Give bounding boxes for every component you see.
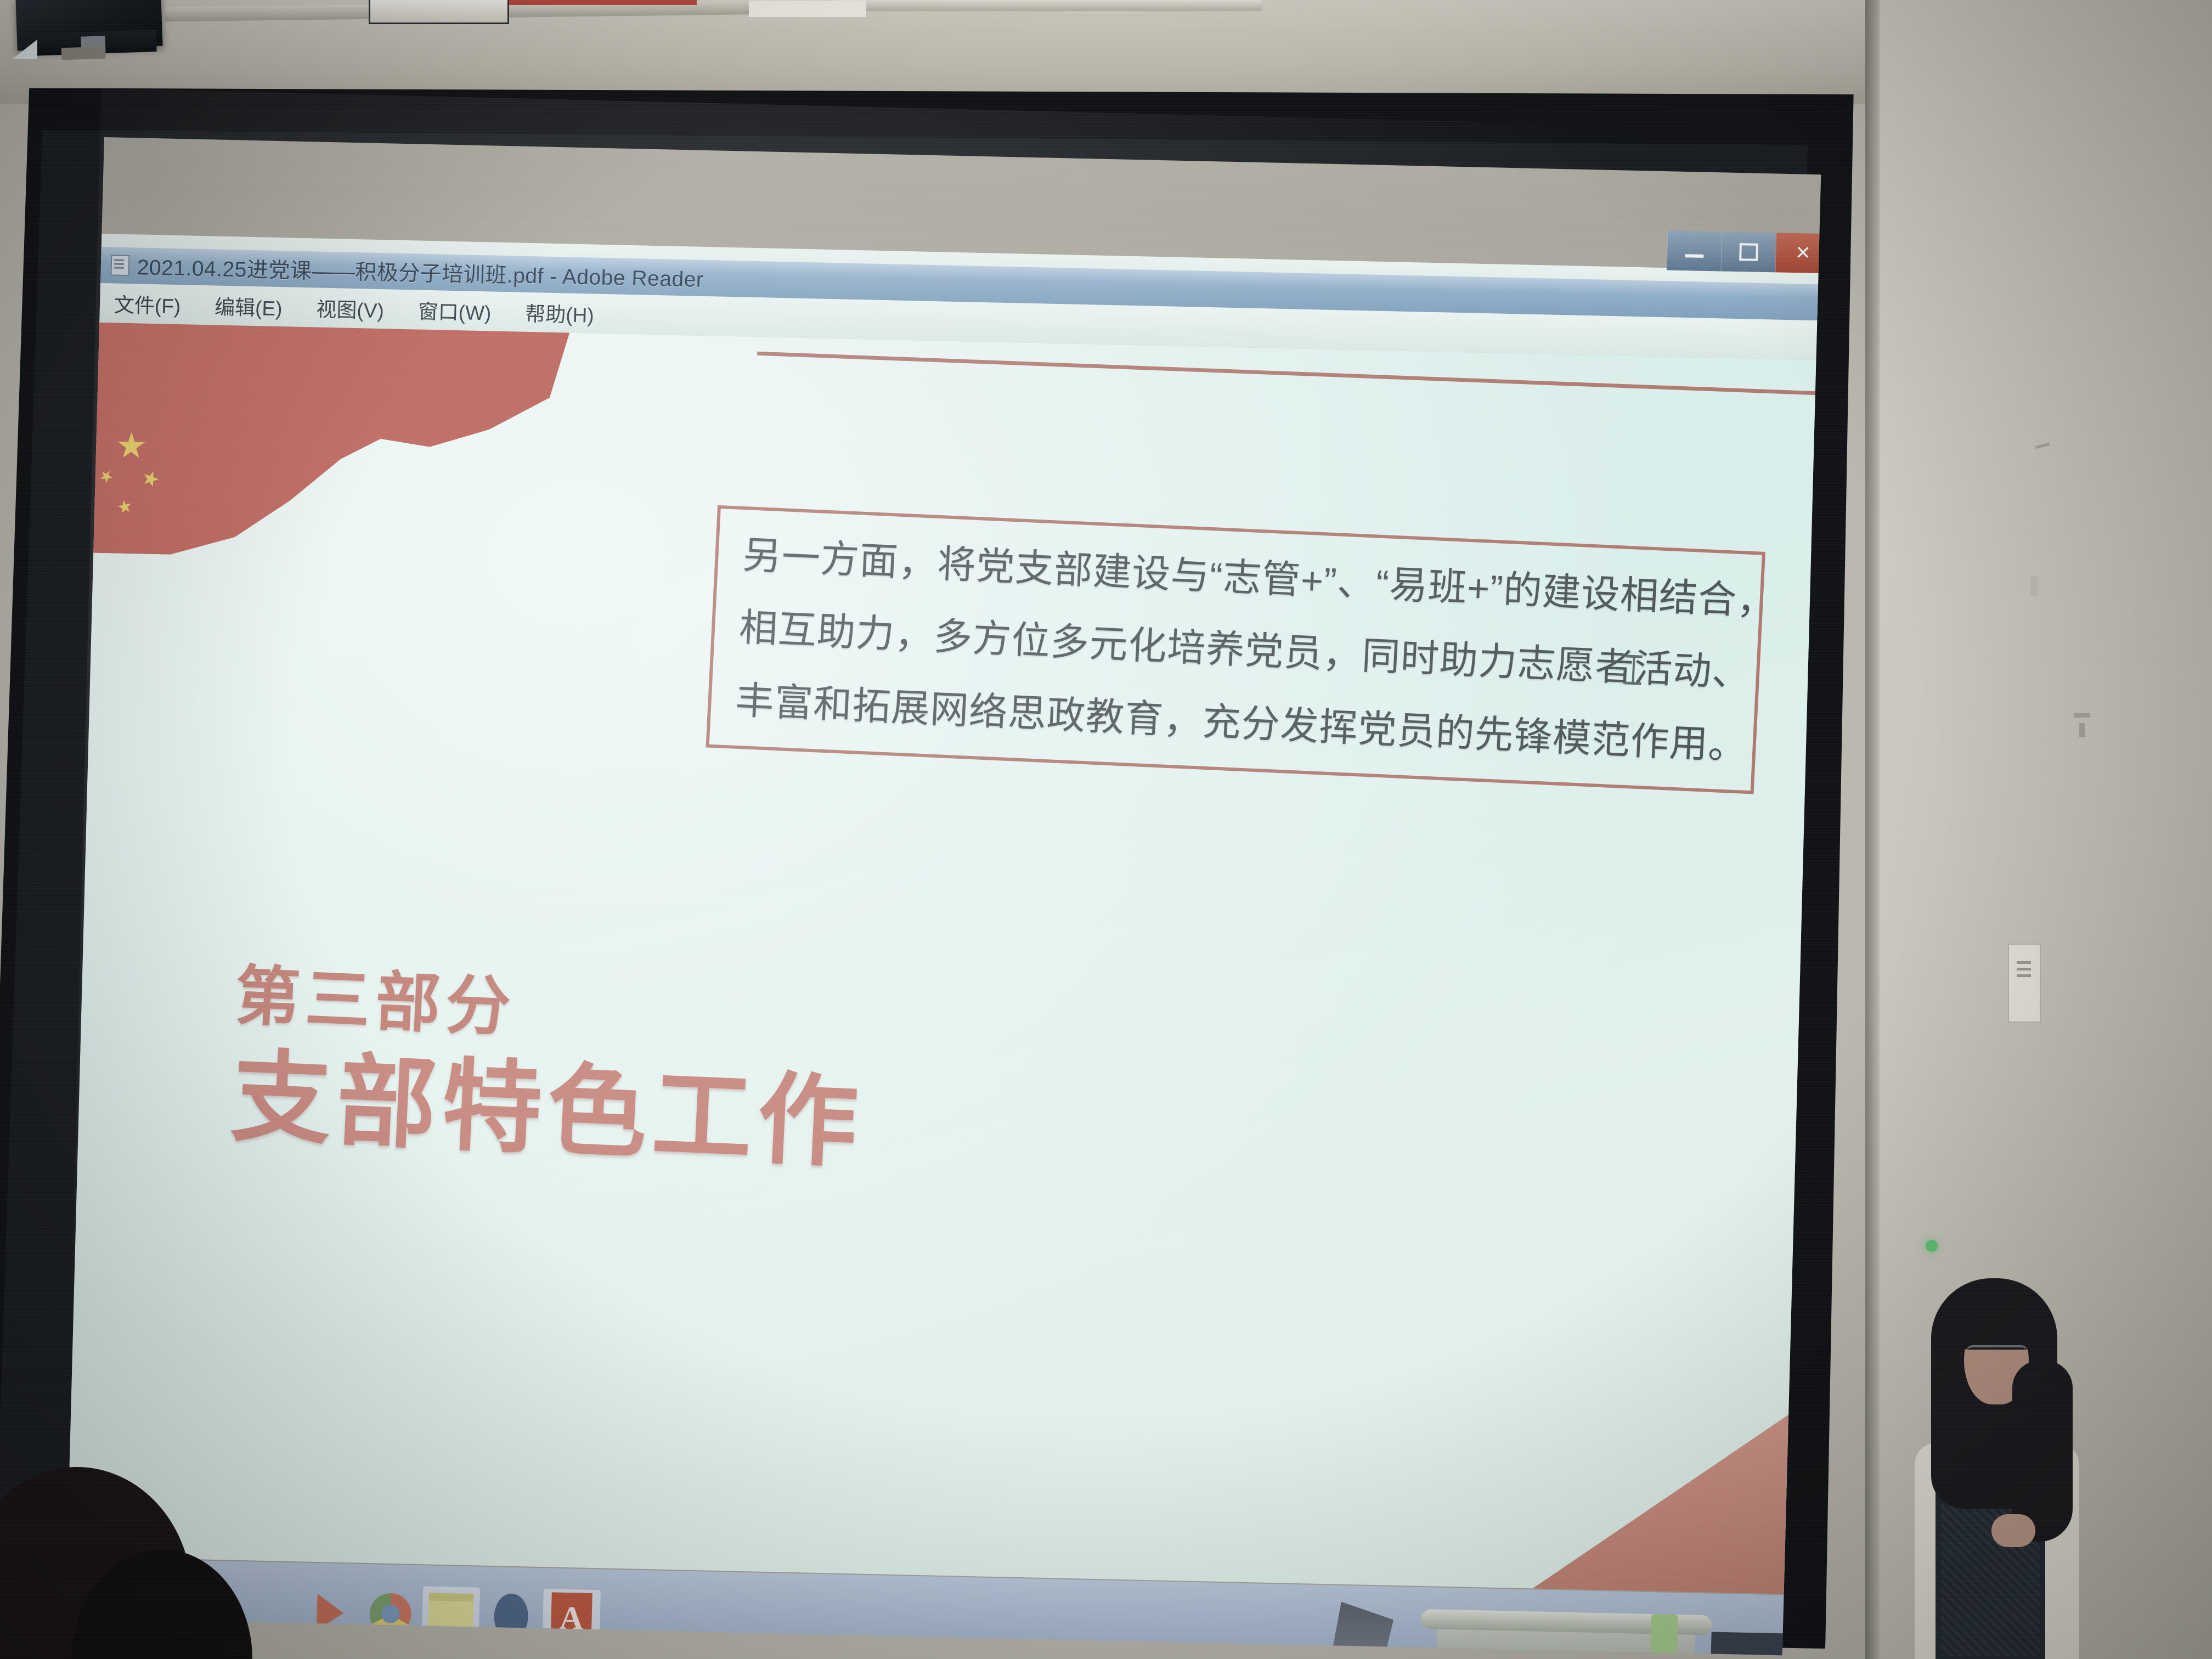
close-button[interactable]: ✕	[1775, 233, 1821, 273]
ceiling-vent-icon	[369, 0, 509, 24]
top-rule-divider	[757, 352, 1821, 396]
office-app-icon[interactable]	[482, 1588, 540, 1646]
oval-app-icon	[494, 1593, 529, 1640]
presenter	[1909, 1278, 2090, 1659]
adobe-a-icon: A	[550, 1592, 592, 1644]
media-player-icon[interactable]	[301, 1583, 359, 1641]
chrome-circle-icon	[369, 1593, 412, 1635]
minimize-button[interactable]	[1667, 231, 1722, 272]
adobe-reader-window: ✕ ✕ 2021.04.25进党课——积极分子培训班.pdf - Adobe R…	[65, 247, 1821, 1655]
maximize-button[interactable]	[1721, 232, 1776, 272]
minimize-icon	[1685, 254, 1703, 258]
ceiling-rail-secondary	[834, 0, 1262, 11]
folder-icon	[428, 1593, 474, 1638]
adobe-reader-icon[interactable]: A	[542, 1589, 601, 1647]
section-title-heading: 支部特色工作	[229, 1016, 867, 1187]
wall-scuff	[2079, 723, 2085, 737]
presenter-hand	[1991, 1514, 2035, 1547]
wall-scuff	[2074, 713, 2090, 718]
chrome-icon[interactable]	[361, 1585, 420, 1643]
slide-body-text: 另一方面，将党支部建设与“志管+”、“易班+”的建设相结合， 相互助力，多方位多…	[733, 522, 1775, 787]
light-switch-panel[interactable]	[2008, 944, 2041, 1023]
pdf-document-icon	[110, 255, 129, 276]
menu-item-file[interactable]: 文件(F)	[114, 288, 181, 319]
desk-bottle	[1650, 1614, 1678, 1655]
bottom-hill-decoration	[1279, 1347, 1821, 1594]
classroom-projection-scene: ✕ ✕ 2021.04.25进党课——积极分子培训班.pdf - Adobe R…	[0, 0, 2212, 1659]
chinese-flag-motif-icon	[71, 323, 571, 563]
file-explorer-icon[interactable]	[421, 1586, 480, 1644]
play-triangle-icon	[317, 1594, 344, 1632]
wall-edge	[1865, 0, 1880, 1659]
menu-item-edit[interactable]: 编辑(E)	[215, 290, 283, 321]
maximize-icon	[1739, 243, 1758, 261]
window-controls: ✕	[1667, 231, 1821, 274]
status-led-icon	[1926, 1240, 1938, 1252]
presenter-fringe	[1960, 1311, 2036, 1350]
projector-mount	[61, 47, 106, 60]
pdf-slide-page: 另一方面，将党支部建设与“志管+”、“易班+”的建设相结合， 相互助力，多方位多…	[67, 323, 1821, 1594]
menu-item-help[interactable]: 帮助(H)	[525, 297, 595, 329]
projected-desktop: ✕ ✕ 2021.04.25进党课——积极分子培训班.pdf - Adobe R…	[65, 137, 1821, 1655]
vent-inner	[749, 1, 866, 17]
menu-item-view[interactable]: 视图(V)	[316, 293, 385, 324]
wall-nail	[2030, 576, 2038, 596]
presenter-glasses-icon	[1966, 1345, 2028, 1361]
menu-item-window[interactable]: 窗口(W)	[417, 295, 492, 326]
